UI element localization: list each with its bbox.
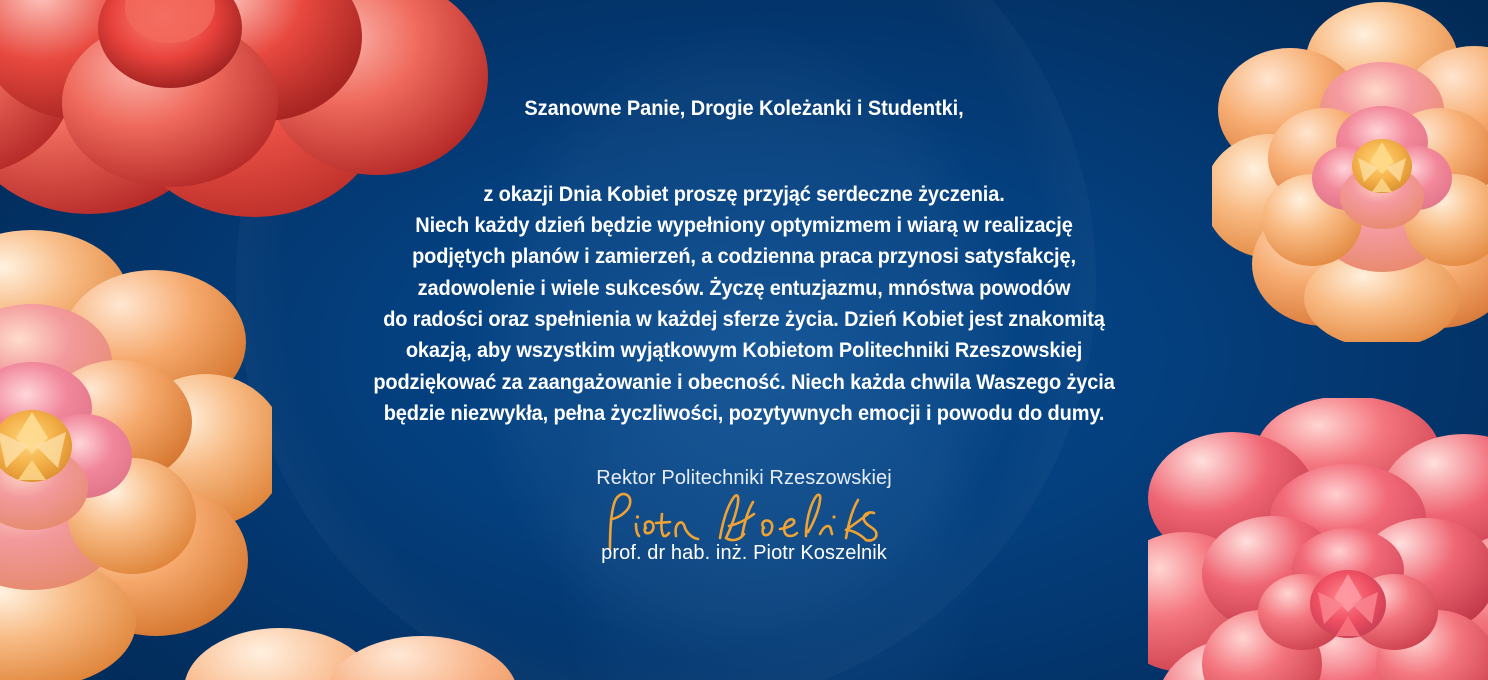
message-line-4: zadowolenie i wiele sukcesów. Życzę entu… xyxy=(52,273,1436,304)
greeting-card: Szanowne Panie, Drogie Koleżanki i Stude… xyxy=(0,0,1488,680)
message-line-6: okazją, aby wszystkim wyjątkowym Kobieto… xyxy=(52,335,1436,366)
message-line-1: z okazji Dnia Kobiet proszę przyjąć serd… xyxy=(52,179,1436,210)
message-line-3: podjętych planów i zamierzeń, a codzienn… xyxy=(52,241,1436,272)
message-line-2: Niech każdy dzień będzie wypełniony opty… xyxy=(52,210,1436,241)
message-line-5: do radości oraz spełnienia w każdej sfer… xyxy=(52,304,1436,335)
flower-bottom-center-icon xyxy=(160,570,580,680)
greeting-line: Szanowne Panie, Drogie Koleżanki i Stude… xyxy=(52,96,1436,122)
message-block: Szanowne Panie, Drogie Koleżanki i Stude… xyxy=(0,96,1488,429)
signature-block: Rektor Politechniki Rzeszowskiej xyxy=(0,466,1488,565)
signature-name: prof. dr hab. inż. Piotr Koszelnik xyxy=(0,541,1488,565)
message-line-8: będzie niezwykła, pełna życzliwości, poz… xyxy=(52,398,1436,429)
message-line-7: podziękować za zaangażowanie i obecność.… xyxy=(52,367,1436,398)
